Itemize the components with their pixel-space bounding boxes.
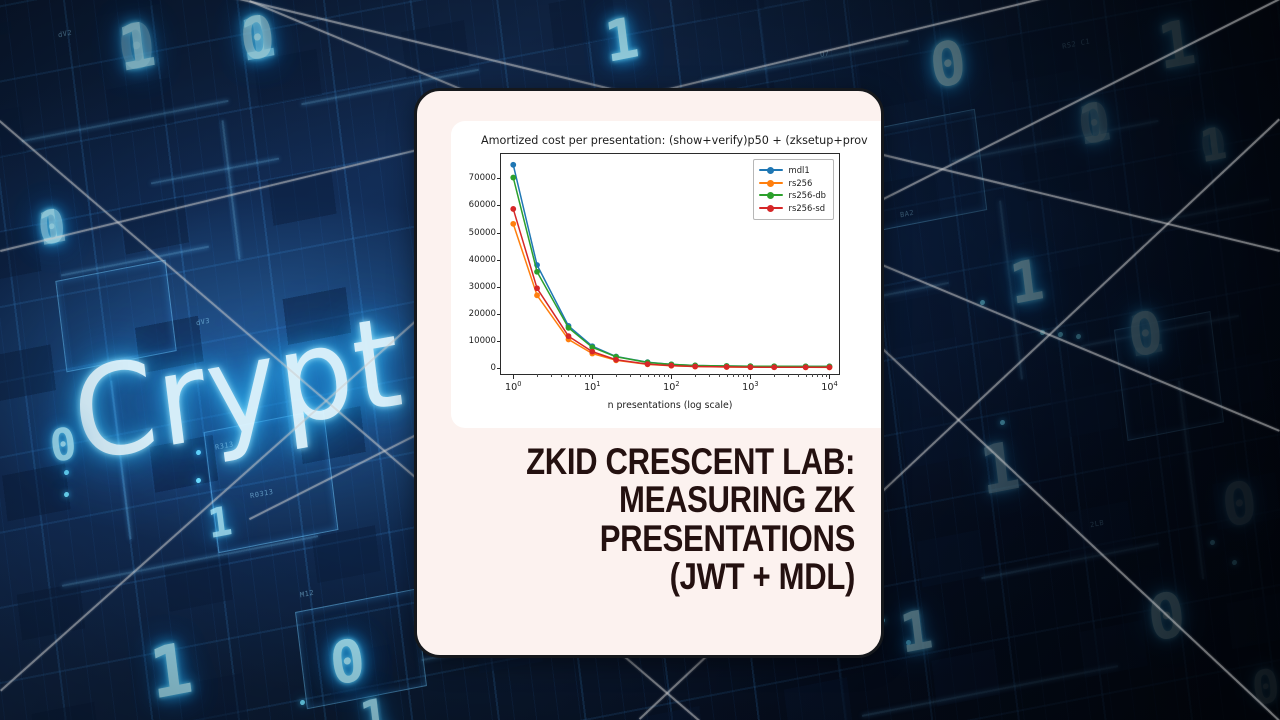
card-headline: ZKID Crescent Lab:Measuring ZKPresentati… xyxy=(507,443,855,597)
headline-line-2: Measuring ZK xyxy=(507,481,855,519)
headline-line-4: (JWT + mDL) xyxy=(507,558,855,596)
chart-legend: mdl1rs256rs256-dbrs256-sd xyxy=(753,159,834,220)
series-point-rs256-sd xyxy=(724,364,730,370)
y-tick-label: 10000 xyxy=(469,336,496,346)
series-point-rs256 xyxy=(510,221,516,227)
series-point-rs256 xyxy=(534,292,540,298)
series-point-rs256-sd xyxy=(566,333,572,339)
chart-xlabel: n presentations (log scale) xyxy=(500,400,840,411)
y-tick-label: 50000 xyxy=(469,228,496,238)
legend-swatch-icon xyxy=(759,202,783,214)
series-point-rs256-sd xyxy=(803,364,809,370)
series-point-rs256-db xyxy=(510,175,516,181)
x-tick-label: 102 xyxy=(663,380,679,393)
series-point-rs256-sd xyxy=(613,357,619,363)
y-tick-label: 60000 xyxy=(469,200,496,210)
legend-label: rs256-db xyxy=(789,191,826,199)
series-point-rs256-sd xyxy=(668,363,674,369)
series-point-rs256-sd xyxy=(645,361,651,367)
legend-item-rs256-sd: rs256-sd xyxy=(759,202,826,215)
legend-item-mdl1: mdl1 xyxy=(759,164,826,177)
x-tick-label: 103 xyxy=(742,380,758,393)
chart-image-panel: Amortized cost per presentation: (show+v… xyxy=(451,121,884,428)
legend-swatch-icon xyxy=(759,189,783,201)
legend-label: mdl1 xyxy=(789,166,810,174)
series-point-rs256-sd xyxy=(534,285,540,291)
y-tick-label: 70000 xyxy=(469,173,496,183)
y-tick-label: 0 xyxy=(491,363,496,373)
series-point-rs256-sd xyxy=(510,206,516,212)
series-point-rs256-db xyxy=(566,325,572,331)
legend-item-rs256-db: rs256-db xyxy=(759,189,826,202)
series-point-rs256-sd xyxy=(827,364,833,370)
x-tick-label: 100 xyxy=(505,380,521,393)
series-line-rs256 xyxy=(513,224,829,367)
legend-label: rs256-sd xyxy=(789,204,826,212)
content-card: Amortized cost per presentation: (show+v… xyxy=(414,88,884,658)
series-point-rs256-db xyxy=(534,269,540,275)
series-line-rs256-sd xyxy=(513,209,829,367)
series-point-rs256-sd xyxy=(692,364,698,370)
y-tick-label: 40000 xyxy=(469,255,496,265)
headline-line-1: ZKID Crescent Lab: xyxy=(507,443,855,481)
x-tick-label: 104 xyxy=(821,380,837,393)
legend-swatch-icon xyxy=(759,177,783,189)
y-tick-label: 30000 xyxy=(469,282,496,292)
series-point-rs256-sd xyxy=(748,364,754,370)
series-point-mdl1 xyxy=(510,162,516,168)
matplotlib-figure: Amortized cost per presentation: (show+v… xyxy=(451,121,884,428)
legend-item-rs256: rs256 xyxy=(759,177,826,190)
series-point-rs256-sd xyxy=(589,349,595,355)
legend-swatch-icon xyxy=(759,164,783,176)
series-point-rs256-sd xyxy=(771,364,777,370)
headline-line-3: Presentations xyxy=(507,520,855,558)
chart-axes: 010000200003000040000500006000070000 100… xyxy=(500,153,840,375)
y-tick-label: 20000 xyxy=(469,309,496,319)
x-tick-label: 101 xyxy=(584,380,600,393)
legend-label: rs256 xyxy=(789,179,813,187)
chart-title: Amortized cost per presentation: (show+v… xyxy=(481,134,884,147)
